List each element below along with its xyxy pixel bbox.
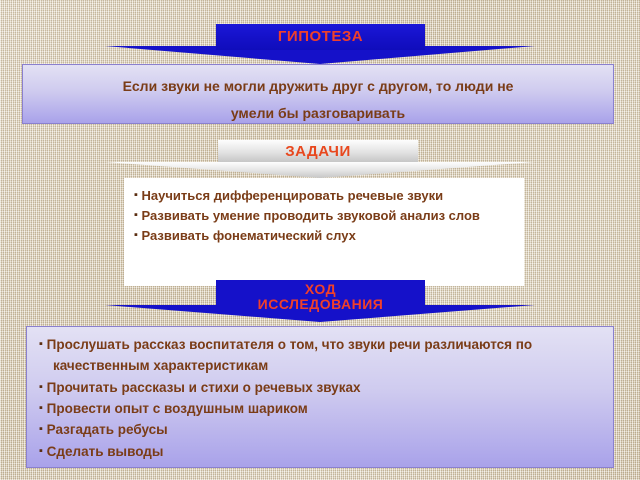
- hypothesis-line-2: умели бы разговаривать: [37, 100, 599, 127]
- research-item-5: ▪ Сделать выводы: [39, 441, 601, 462]
- bullet-icon: ▪: [134, 229, 138, 241]
- bullet-icon: ▪: [39, 402, 43, 414]
- research-item-0: ▪ Прослушать рассказ воспитателя о том, …: [39, 334, 601, 355]
- research-item-4: ▪ Разгадать ребусы: [39, 419, 601, 440]
- hypothesis-text-box: Если звуки не могли дружить друг с друго…: [22, 64, 614, 124]
- research-heading-line-1: ХОД: [305, 282, 336, 297]
- bullet-icon: ▪: [134, 209, 138, 221]
- tasks-heading: ЗАДАЧИ: [218, 140, 418, 164]
- research-item-3: ▪ Провести опыт с воздушным шариком: [39, 398, 601, 419]
- hypothesis-heading: ГИПОТЕЗА: [216, 24, 425, 50]
- tasks-item-1: ▪ Развивать умение проводить звуковой ан…: [134, 206, 514, 226]
- bullet-icon: ▪: [134, 189, 138, 201]
- slide-canvas: ГИПОТЕЗА Если звуки не могли дружить дру…: [0, 0, 640, 480]
- tasks-item-2: ▪ Развивать фонематический слух: [134, 226, 514, 246]
- bullet-icon: ▪: [39, 445, 43, 457]
- research-heading-line-2: ИССЛЕДОВАНИЯ: [258, 297, 384, 312]
- research-heading: ХОД ИССЛЕДОВАНИЯ: [216, 280, 425, 314]
- bullet-icon: ▪: [39, 338, 43, 350]
- research-text-box: ▪ Прослушать рассказ воспитателя о том, …: [26, 326, 614, 468]
- hypothesis-arrow-banner: ГИПОТЕЗА: [0, 24, 640, 64]
- bullet-icon: ▪: [39, 381, 43, 393]
- bullet-icon: ▪: [39, 423, 43, 435]
- tasks-item-0: ▪ Научиться дифференцировать речевые зву…: [134, 186, 514, 206]
- tasks-arrow-banner: ЗАДАЧИ: [0, 140, 640, 178]
- research-arrow-banner: ХОД ИССЛЕДОВАНИЯ: [0, 280, 640, 322]
- research-item-1: качественным характеристикам: [39, 355, 601, 376]
- research-item-2: ▪ Прочитать рассказы и стихи о речевых з…: [39, 377, 601, 398]
- hypothesis-line-1: Если звуки не могли дружить друг с друго…: [37, 73, 599, 100]
- tasks-text-box: ▪ Научиться дифференцировать речевые зву…: [124, 178, 524, 286]
